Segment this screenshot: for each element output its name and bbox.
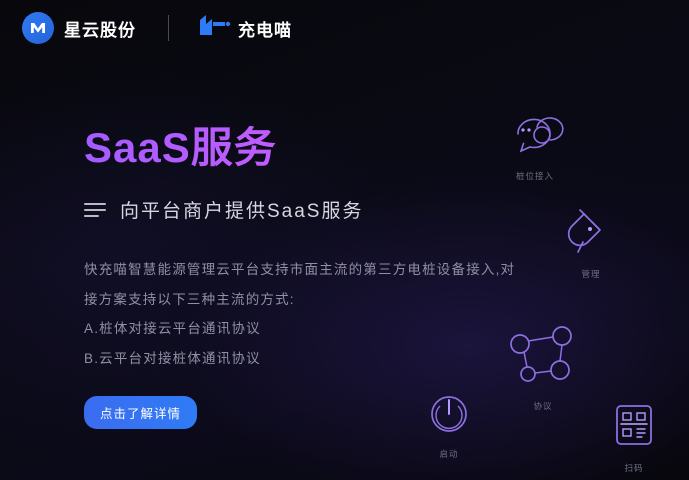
brand-right[interactable]: 充电喵 — [197, 13, 292, 44]
glyph-scan-label: 扫码 — [600, 462, 668, 474]
glyph-power-label: 启动 — [416, 448, 482, 460]
glyph-power[interactable]: 启动 — [416, 388, 482, 460]
hero-paragraph-1: 快充喵智慧能源管理云平台支持市面主流的第三方电桩设备接入,对 — [84, 255, 584, 285]
glyph-chat-bubbles[interactable]: 桩位接入 — [498, 104, 572, 182]
plug-icon — [556, 202, 626, 260]
brand-divider — [168, 15, 169, 41]
brand-left[interactable]: 星云股份 — [22, 12, 136, 44]
subtitle-row: 向平台商户提供SaaS服务 — [84, 196, 604, 223]
top-bar: 星云股份 充电喵 — [0, 0, 689, 56]
glyph-network-label: 协议 — [500, 400, 586, 412]
page-subtitle: 向平台商户提供SaaS服务 — [120, 196, 363, 223]
power-button-icon — [416, 388, 482, 440]
hamburger-menu-icon[interactable] — [84, 203, 106, 217]
brand-right-name: 充电喵 — [238, 16, 292, 41]
hero-paragraph-2: 接方案支持以下三种主流的方式: — [84, 285, 584, 315]
glyph-network[interactable]: 协议 — [500, 322, 586, 412]
page-root: 星云股份 充电喵 SaaS服务 向平台商户提供SaaS服务 快充喵智慧能源管理 — [0, 0, 689, 480]
glyph-plug[interactable]: 管理 — [556, 202, 626, 280]
glyph-scan[interactable]: 扫码 — [600, 398, 668, 474]
details-button[interactable]: 点击了解详情 — [84, 396, 197, 429]
chat-bubbles-icon — [498, 104, 572, 162]
charging-meow-logo-icon — [197, 13, 231, 44]
glyph-plug-label: 管理 — [556, 268, 626, 280]
scan-code-icon — [600, 398, 668, 454]
nebula-m-logo-icon — [22, 12, 54, 44]
network-nodes-icon — [500, 322, 586, 392]
glyph-chat-label: 桩位接入 — [498, 170, 572, 182]
brand-left-name: 星云股份 — [64, 16, 136, 41]
